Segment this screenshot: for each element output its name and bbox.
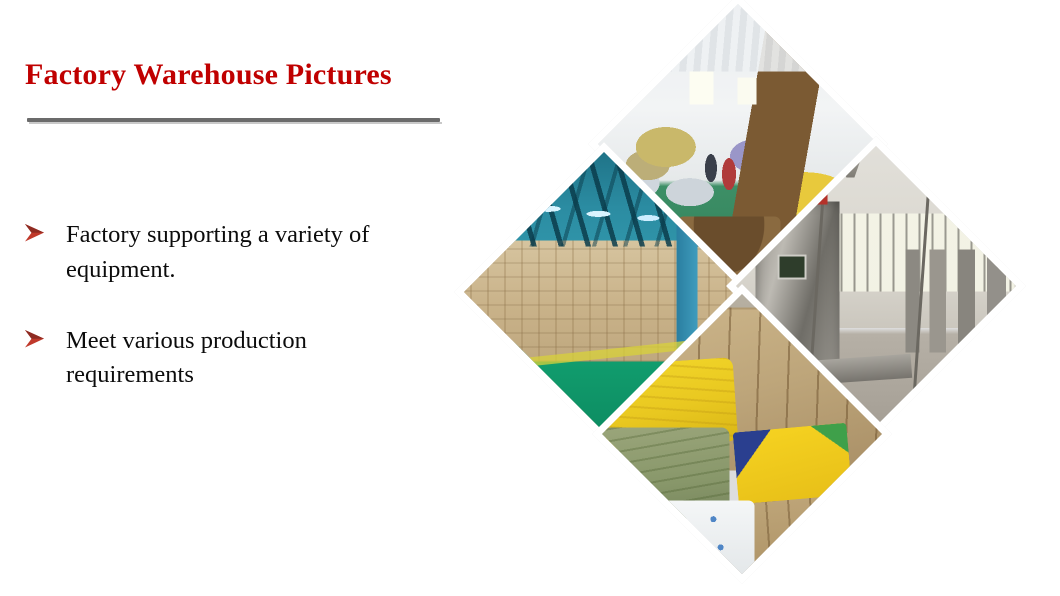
chevron-arrow-bullet-icon — [22, 326, 48, 352]
list-item: Factory supporting a variety of equipmen… — [0, 218, 470, 288]
title-divider-rule — [27, 118, 440, 122]
photo-detail-window-2 — [738, 78, 756, 105]
list-item: Meet various production requirements — [0, 324, 470, 394]
photo-detail-white-bags — [634, 500, 754, 578]
photo-detail-ceiling — [588, 0, 888, 72]
photo-collage — [450, 18, 1060, 596]
photo-detail-window — [690, 72, 714, 105]
slide-canvas: Factory Warehouse Pictures Factory suppo… — [0, 0, 1060, 596]
bullet-list: Factory supporting a variety of equipmen… — [0, 218, 470, 429]
chevron-arrow-bullet-icon — [22, 220, 48, 246]
photo-detail-printed-packets — [733, 423, 853, 505]
list-item-label: Meet various production requirements — [66, 324, 438, 394]
page-title: Factory Warehouse Pictures — [25, 58, 392, 92]
list-item-label: Factory supporting a variety of equipmen… — [66, 218, 438, 288]
text-column: Factory Warehouse Pictures Factory suppo… — [0, 0, 470, 596]
